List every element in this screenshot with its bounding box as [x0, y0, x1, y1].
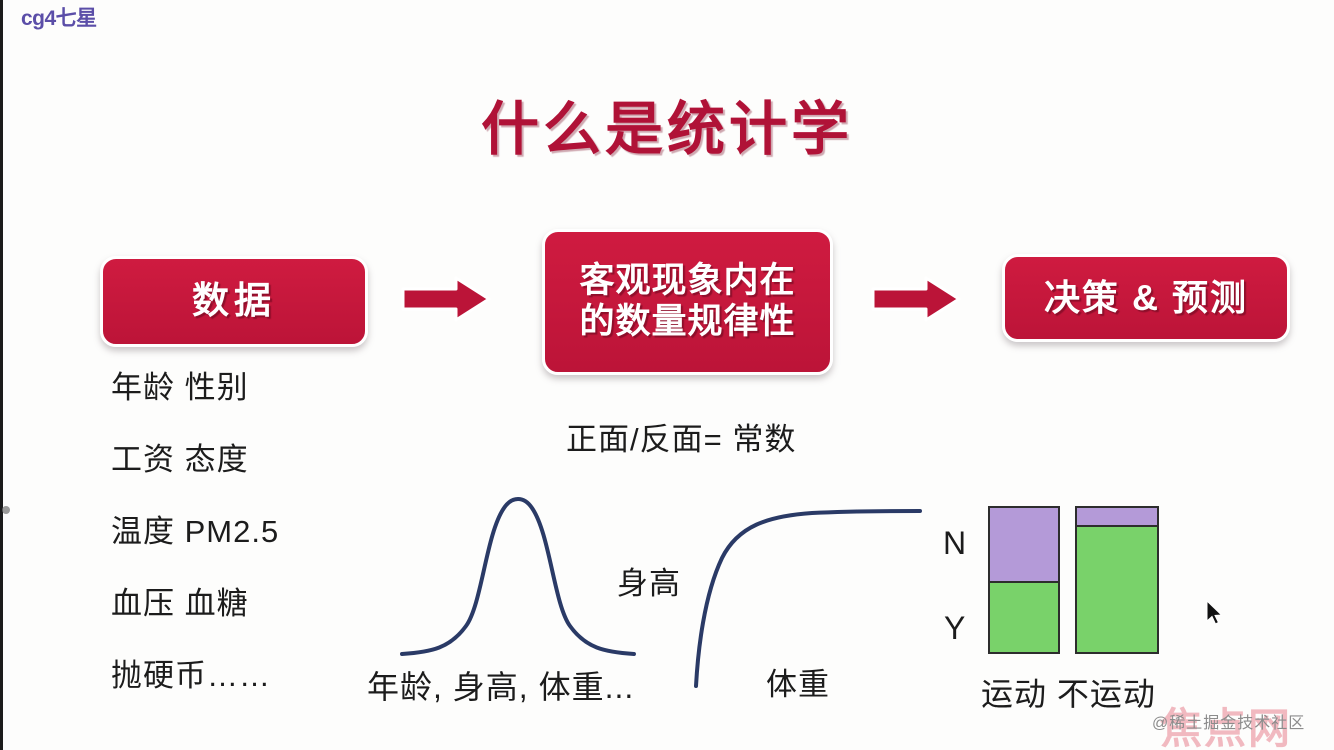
- height-axis-caption: 身高: [617, 558, 681, 603]
- stacked-bar-no-exercise: [1075, 506, 1159, 654]
- list-item: 温度 PM2.5: [111, 516, 401, 588]
- bar-chart-caption: 运动 不运动: [981, 669, 1156, 715]
- flow-box-law-line1: 客观现象内在: [579, 261, 795, 302]
- flow-box-law: 客观现象内在 的数量规律性: [542, 229, 833, 375]
- channel-watermark: cg4七星: [21, 2, 97, 32]
- bar-segment-n: [990, 508, 1058, 583]
- bar-axis-label-n: N: [943, 525, 966, 562]
- page-title: 什么是统计学: [0, 82, 1334, 166]
- bell-curve-caption: 年龄, 身高, 体重...: [367, 662, 634, 708]
- data-examples-list: 年龄 性别 工资 态度 温度 PM2.5 血压 血糖 抛硬币……: [111, 372, 401, 732]
- bar-segment-y: [1077, 527, 1157, 652]
- flow-box-data-label: 数据: [192, 280, 276, 323]
- right-arrow-icon: [400, 275, 492, 323]
- flow-box-law-line2: 的数量规律性: [579, 302, 795, 343]
- bar-axis-label-y: Y: [944, 610, 965, 647]
- video-player-edge-dot: [2, 506, 10, 514]
- coin-formula-text: 正面/反面= 常数: [566, 414, 796, 459]
- list-item: 血压 血糖: [111, 588, 401, 660]
- mouse-cursor-icon: [1205, 600, 1225, 628]
- bar-segment-n: [1077, 508, 1157, 527]
- stacked-bar-exercise: [988, 506, 1060, 654]
- flow-box-decision: 决策 & 预测: [1002, 254, 1290, 342]
- flow-box-decision-label: 决策 & 预测: [1044, 277, 1248, 319]
- bar-segment-y: [990, 583, 1058, 652]
- flow-box-data: 数据: [100, 256, 368, 347]
- list-item: 抛硬币……: [111, 660, 401, 732]
- list-item: 年龄 性别: [111, 372, 401, 444]
- site-watermark: @稀土掘金技术社区: [1152, 709, 1305, 733]
- right-arrow-icon: [870, 275, 962, 323]
- slide-canvas: cg4七星 什么是统计学 数据 客观现象内在 的数量规律性 决策 & 预测 年龄…: [0, 0, 1334, 750]
- bell-curve-chart: [398, 486, 638, 661]
- list-item: 工资 态度: [111, 444, 401, 516]
- weight-axis-caption: 体重: [766, 659, 830, 704]
